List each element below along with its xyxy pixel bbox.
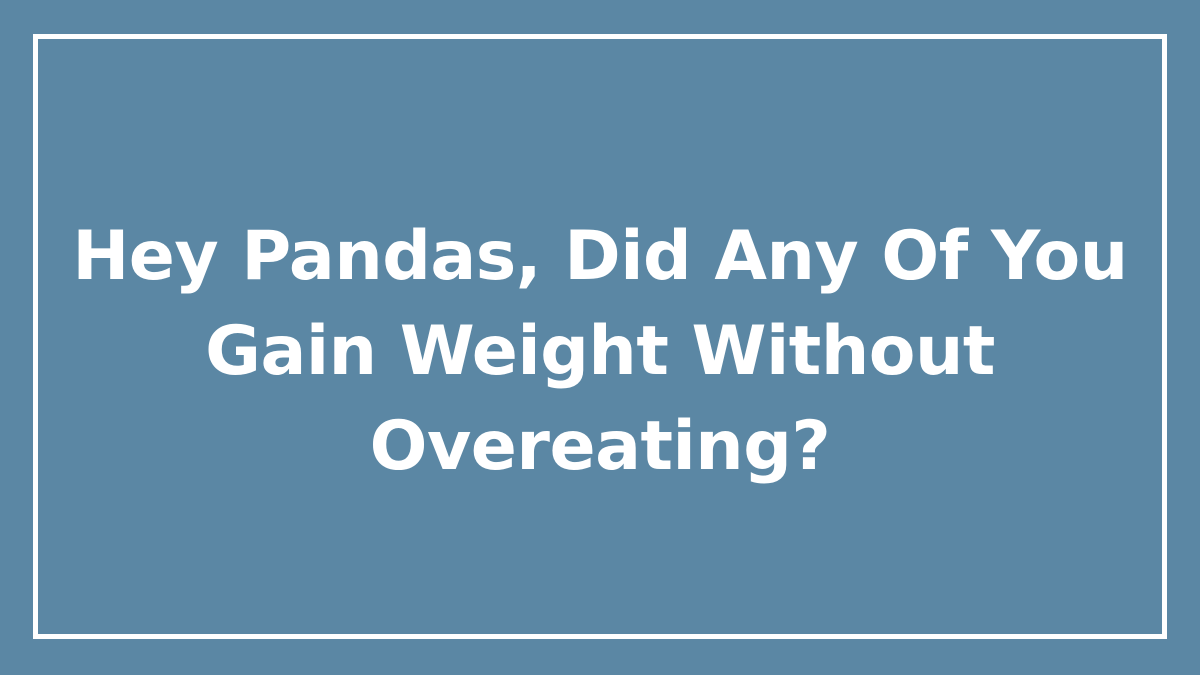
- poster-canvas: Hey Pandas, Did Any Of You Gain Weight W…: [0, 0, 1200, 675]
- headline-text-block: Hey Pandas, Did Any Of You Gain Weight W…: [0, 0, 1200, 675]
- headline-line-1: Hey Pandas, Did Any Of You: [72, 209, 1127, 304]
- headline-line-2: Gain Weight Without: [205, 304, 995, 399]
- headline-line-3: Overeating?: [370, 399, 831, 494]
